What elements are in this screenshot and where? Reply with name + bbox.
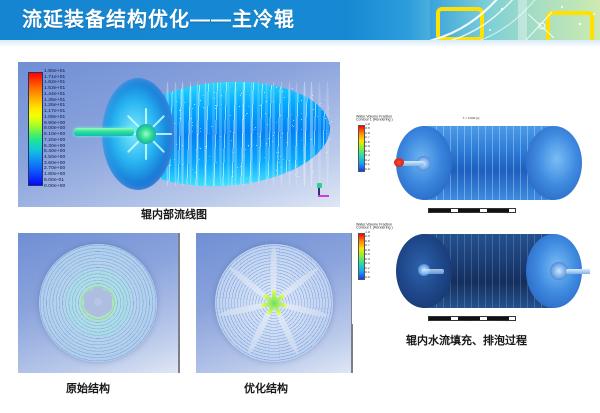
cfx-legend-bottom: Water.Volume Fraction Contour 1 (Renderi… bbox=[356, 224, 390, 280]
streamline-speck bbox=[211, 126, 212, 127]
streamline-speck bbox=[203, 107, 204, 108]
streamline-speck bbox=[329, 123, 330, 124]
streamline-speck bbox=[325, 118, 326, 119]
streamline-speck bbox=[182, 164, 183, 165]
streamline-speck bbox=[266, 101, 267, 102]
streamline-speck bbox=[264, 92, 265, 93]
cfx-legend-tick-5: 0.5 bbox=[365, 146, 370, 150]
cfx-legend-tick-1: 0.9 bbox=[365, 236, 370, 240]
streamline-speck bbox=[216, 162, 217, 163]
streamline-speck bbox=[209, 156, 210, 157]
slide-header: 流延装备结构优化——主冷辊 bbox=[0, 0, 600, 40]
cfx-time-label: T = 0.000 [s] bbox=[352, 116, 590, 120]
streamline-speck bbox=[212, 174, 213, 175]
streamline-speck bbox=[326, 130, 327, 131]
streamline-speck bbox=[192, 125, 193, 126]
streamline-speck bbox=[330, 139, 331, 140]
streamline-speck bbox=[268, 138, 269, 139]
streamline-speck bbox=[200, 148, 201, 149]
streamline-speck bbox=[230, 87, 231, 88]
streamline-speck bbox=[299, 176, 300, 177]
streamline-speck bbox=[331, 129, 332, 130]
streamline-speck bbox=[266, 145, 267, 146]
streamline-speck bbox=[303, 150, 304, 151]
scale-tick-1: 1.000 bbox=[466, 211, 472, 214]
streamline-speck bbox=[192, 122, 193, 123]
streamline-speck bbox=[321, 109, 322, 110]
streamline-speck bbox=[301, 100, 302, 101]
panel-fill-top-view: Water.Volume Fraction Contour 1 (Renderi… bbox=[352, 112, 590, 216]
streamline-speck bbox=[220, 149, 221, 150]
cfx-legend-tick-9: 0.1 bbox=[365, 271, 370, 275]
streamline-speck bbox=[197, 126, 198, 127]
cfx-legend-values-bottom: 1.00.90.80.70.60.50.40.30.20.10.0 bbox=[365, 232, 368, 279]
cfx-legend-tick-4: 0.6 bbox=[365, 249, 370, 253]
streamline-speck bbox=[280, 156, 281, 157]
streamline-speck bbox=[278, 152, 279, 153]
roll-inlet-shaft bbox=[74, 128, 134, 136]
streamline-speck bbox=[197, 134, 198, 135]
panel-fill-bottom-view: Water.Volume Fraction Contour 1 (Renderi… bbox=[352, 220, 590, 324]
streamline-speck bbox=[265, 113, 266, 114]
streamline-speck bbox=[187, 171, 188, 172]
roll-cylinder-dark bbox=[396, 234, 576, 308]
streamline-speck bbox=[200, 128, 201, 129]
panel-original-structure bbox=[18, 233, 178, 373]
roll-ring bbox=[295, 82, 298, 186]
cfx-legend-tick-10: 0.0 bbox=[365, 168, 370, 172]
caption-fill-process: 辊内水流填充、排泡过程 bbox=[406, 332, 527, 348]
streamline-speck bbox=[282, 133, 283, 134]
streamline-speck bbox=[174, 159, 175, 160]
cfx-legend-tick-6: 0.4 bbox=[365, 150, 370, 154]
streamline-speck bbox=[192, 131, 193, 132]
cfx-legend-tick-5: 0.5 bbox=[365, 254, 370, 258]
streamline-speck bbox=[297, 172, 298, 173]
streamline-speck bbox=[231, 140, 232, 141]
streamline-colorbar bbox=[28, 72, 43, 186]
streamline-speck bbox=[217, 105, 218, 106]
streamline-speck bbox=[242, 119, 243, 120]
streamline-speck bbox=[281, 167, 282, 168]
streamline-speck bbox=[267, 124, 268, 125]
streamline-speck bbox=[181, 158, 182, 159]
streamline-speck bbox=[313, 109, 314, 110]
streamline-speck bbox=[170, 165, 171, 166]
streamline-speck bbox=[239, 106, 240, 107]
streamline-speck bbox=[301, 140, 302, 141]
scale-tick-0: 0 bbox=[428, 211, 429, 214]
streamline-speck bbox=[221, 96, 222, 97]
streamline-speck bbox=[241, 93, 242, 94]
streamline-speck bbox=[245, 149, 246, 150]
streamline-speck bbox=[245, 115, 246, 116]
streamline-speck bbox=[321, 103, 322, 104]
roll-rings bbox=[166, 82, 332, 186]
caption-optimized-structure: 优化结构 bbox=[244, 380, 288, 396]
roll-3d-model bbox=[96, 76, 332, 192]
streamline-speck bbox=[215, 105, 216, 106]
cylinder-end-right-lit bbox=[526, 234, 582, 308]
streamline-speck bbox=[176, 101, 177, 102]
cfx-legend-tick-3: 0.7 bbox=[365, 245, 370, 249]
streamline-speck bbox=[179, 118, 180, 119]
streamline-speck bbox=[254, 129, 255, 130]
streamline-speck bbox=[312, 99, 313, 100]
cfx-legend-tick-4: 0.6 bbox=[365, 141, 370, 145]
streamline-speck bbox=[199, 159, 200, 160]
inlet-water-marker bbox=[394, 158, 404, 167]
streamline-speck bbox=[278, 144, 279, 145]
scale-tick-1b: 1.000 bbox=[466, 319, 472, 322]
streamline-speck bbox=[194, 104, 195, 105]
roll-ring bbox=[288, 82, 291, 186]
cfx-legend-tick-1: 0.9 bbox=[365, 128, 370, 132]
streamline-speck bbox=[273, 101, 274, 102]
streamline-speck bbox=[221, 104, 222, 105]
streamline-speck bbox=[257, 133, 258, 134]
roll-ring bbox=[181, 82, 184, 186]
cfx-legend-values-top: 1.00.90.80.70.60.50.40.30.20.10.0 bbox=[365, 124, 368, 171]
streamline-speck bbox=[230, 115, 231, 116]
streamline-speck bbox=[233, 152, 234, 153]
streamline-speck bbox=[237, 167, 238, 168]
streamline-speck bbox=[280, 115, 281, 116]
streamline-speck bbox=[246, 178, 247, 179]
page-title: 流延装备结构优化——主冷辊 bbox=[22, 4, 295, 36]
streamline-speck bbox=[203, 95, 204, 96]
streamline-speck bbox=[242, 134, 243, 135]
cfx-legend-title-2b: Contour 1 (Rendering ) bbox=[356, 227, 407, 231]
streamline-speck bbox=[256, 145, 257, 146]
streamline-speck bbox=[192, 169, 193, 170]
roll-ring bbox=[303, 82, 306, 186]
streamline-speck bbox=[200, 100, 201, 101]
streamline-speck bbox=[324, 99, 325, 100]
streamline-speck bbox=[196, 149, 197, 150]
streamline-speck bbox=[200, 131, 201, 132]
streamline-speck bbox=[278, 159, 279, 160]
streamline-speck bbox=[277, 156, 278, 157]
streamline-speck bbox=[276, 122, 277, 123]
cfx-legend-tick-7: 0.3 bbox=[365, 263, 370, 267]
streamline-speck bbox=[235, 102, 236, 103]
cfx-legend-tick-10: 0.0 bbox=[365, 276, 370, 280]
streamline-speck bbox=[280, 137, 281, 138]
streamline-speck bbox=[184, 102, 185, 103]
roll-ring bbox=[280, 82, 283, 186]
streamline-speck bbox=[209, 133, 210, 134]
header-decoration bbox=[430, 0, 600, 40]
streamline-speck bbox=[326, 152, 327, 153]
roll-ring bbox=[204, 82, 207, 186]
streamline-speck bbox=[276, 87, 277, 88]
cfx-legend-top: Water.Volume Fraction Contour 1 (Renderi… bbox=[356, 116, 390, 172]
streamline-speck bbox=[192, 108, 193, 109]
streamline-speck bbox=[311, 139, 312, 140]
cylinder-end-right bbox=[526, 126, 582, 200]
streamline-speck bbox=[244, 156, 245, 157]
streamline-speck bbox=[264, 157, 265, 158]
header-deco-svg bbox=[430, 0, 600, 40]
streamline-speck bbox=[243, 105, 244, 106]
cfx-legend-colorbar bbox=[358, 125, 365, 172]
streamline-speck bbox=[312, 171, 313, 172]
scale-bar-bottom: 0 1.000 2.000 (m) bbox=[428, 313, 514, 321]
streamline-speck bbox=[248, 106, 249, 107]
streamline-speck bbox=[230, 131, 231, 132]
streamline-speck bbox=[259, 136, 260, 137]
streamline-speck bbox=[289, 160, 290, 161]
streamline-speck bbox=[329, 137, 330, 138]
roll-ring bbox=[318, 82, 321, 186]
streamline-speck bbox=[220, 136, 221, 137]
panel-streamlines: 1.80e+011.71e+011.62e+011.53e+011.44e+01… bbox=[18, 62, 340, 207]
roll-ring bbox=[227, 82, 230, 186]
cylinder-end-left-dark bbox=[396, 234, 452, 308]
streamline-speck bbox=[273, 135, 274, 136]
caption-original-structure: 原始结构 bbox=[66, 380, 110, 396]
streamline-speck bbox=[244, 94, 245, 95]
streamline-speck bbox=[291, 114, 292, 115]
streamline-speck bbox=[293, 120, 294, 121]
cylinder-shaft-left bbox=[422, 269, 444, 274]
streamline-speck bbox=[301, 119, 302, 120]
streamline-speck bbox=[241, 174, 242, 175]
scale-tick-2: 2.000 (m) bbox=[498, 211, 508, 214]
panel-optimized-structure bbox=[196, 233, 351, 373]
streamline-speck bbox=[245, 110, 246, 111]
streamline-speck bbox=[206, 147, 207, 148]
streamline-speck bbox=[214, 92, 215, 93]
streamline-speck bbox=[266, 143, 267, 144]
optimized-section-disc bbox=[215, 244, 333, 362]
streamline-speck bbox=[249, 95, 250, 96]
streamline-speck bbox=[276, 170, 277, 171]
optimized-center-star bbox=[259, 288, 289, 318]
streamline-speck bbox=[174, 123, 175, 124]
streamline-speck bbox=[296, 165, 297, 166]
streamline-speck bbox=[266, 172, 267, 173]
cfx-legend-tick-6: 0.4 bbox=[365, 258, 370, 262]
streamline-speck bbox=[282, 91, 283, 92]
streamline-speck bbox=[292, 88, 293, 89]
streamline-speck bbox=[215, 108, 216, 109]
roll-ring bbox=[250, 82, 253, 186]
streamline-speck bbox=[312, 95, 313, 96]
cfx-legend-tick-2: 0.8 bbox=[365, 240, 370, 244]
streamline-speck bbox=[283, 159, 284, 160]
streamline-speck bbox=[233, 132, 234, 133]
streamline-speck bbox=[279, 162, 280, 163]
streamline-speck bbox=[285, 172, 286, 173]
streamline-speck bbox=[212, 137, 213, 138]
streamline-speck bbox=[240, 166, 241, 167]
cfx-legend-tick-8: 0.2 bbox=[365, 267, 370, 271]
streamline-speck bbox=[246, 113, 247, 114]
streamline-speck bbox=[232, 176, 233, 177]
streamline-speck bbox=[260, 105, 261, 106]
streamline-speck bbox=[267, 97, 268, 98]
streamline-speck bbox=[297, 176, 298, 177]
roll-hub bbox=[136, 124, 156, 144]
streamline-speck bbox=[240, 95, 241, 96]
cfx-legend-tick-3: 0.7 bbox=[365, 137, 370, 141]
streamline-speck bbox=[199, 147, 200, 148]
streamline-speck bbox=[284, 97, 285, 98]
roll-ring bbox=[219, 82, 222, 186]
roll-ring bbox=[234, 82, 237, 186]
roll-cylinder-light bbox=[396, 126, 576, 200]
streamline-speck bbox=[248, 145, 249, 146]
streamline-speck bbox=[274, 132, 275, 133]
cfx-legend-tick-7: 0.3 bbox=[365, 155, 370, 159]
axis-triad-icon bbox=[316, 182, 332, 200]
scale-tick-2b: 2.000 (m) bbox=[498, 319, 508, 322]
streamline-speck bbox=[195, 172, 196, 173]
cfx-legend-tick-8: 0.2 bbox=[365, 159, 370, 163]
streamline-speck bbox=[331, 121, 332, 122]
cfx-legend-colorbar-b bbox=[358, 233, 365, 280]
streamline-speck bbox=[214, 98, 215, 99]
roll-ring bbox=[189, 82, 192, 186]
streamline-speck bbox=[323, 105, 324, 106]
scale-tick-0b: 0 bbox=[428, 319, 429, 322]
streamline-speck bbox=[179, 110, 180, 111]
streamline-speck bbox=[272, 141, 273, 142]
streamline-speck bbox=[232, 171, 233, 172]
streamline-speck bbox=[301, 129, 302, 130]
streamline-speck bbox=[176, 144, 177, 145]
streamline-speck bbox=[317, 116, 318, 117]
original-section-disc bbox=[39, 244, 157, 362]
streamline-speck bbox=[328, 108, 329, 109]
streamline-speck bbox=[292, 125, 293, 126]
cylinder-shaft-right bbox=[566, 269, 590, 274]
cylinder-end-left bbox=[396, 126, 452, 200]
streamline-speck bbox=[182, 145, 183, 146]
streamline-speck bbox=[293, 126, 294, 127]
streamline-speck bbox=[286, 142, 287, 143]
streamline-speck bbox=[301, 113, 302, 114]
cfx-legend-tick-9: 0.1 bbox=[365, 163, 370, 167]
scale-bar-top: 0 1.000 2.000 (m) bbox=[428, 205, 514, 213]
streamline-speck bbox=[292, 173, 293, 174]
streamline-speck bbox=[191, 118, 192, 119]
header-underline bbox=[0, 40, 600, 47]
slide-root: 流延装备结构优化——主冷辊 1.80e+011.71e+011.62e+011.… bbox=[0, 0, 600, 413]
cfx-legend-tick-2: 0.8 bbox=[365, 132, 370, 136]
roll-ring bbox=[174, 82, 177, 186]
streamline-speck bbox=[326, 133, 327, 134]
caption-streamlines: 辊内部流线图 bbox=[141, 206, 207, 222]
